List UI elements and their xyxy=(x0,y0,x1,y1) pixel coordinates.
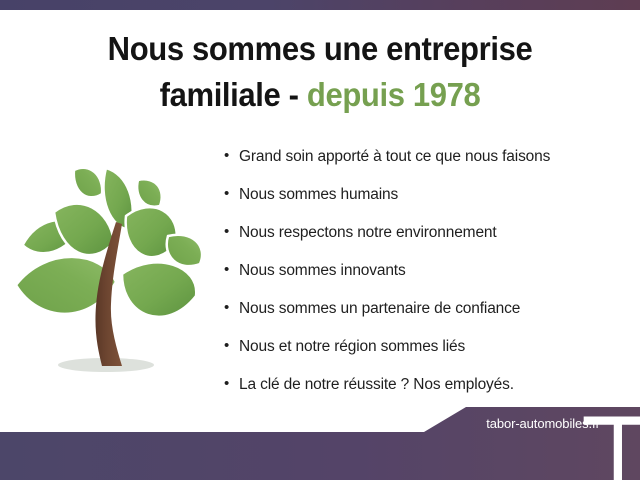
top-accent-strip xyxy=(0,0,640,10)
list-item: •La clé de notre réussite ? Nos employés… xyxy=(222,376,630,393)
page-title-prefix: familiale xyxy=(160,76,281,113)
bullet-marker-icon: • xyxy=(224,186,229,203)
page-title-line-2: familiale - depuis 1978 xyxy=(19,72,621,118)
list-item-label: Grand soin apporté à tout ce que nous fa… xyxy=(239,148,550,165)
bullet-marker-icon: • xyxy=(224,148,229,165)
benefits-list: •Grand soin apporté à tout ce que nous f… xyxy=(222,148,630,393)
bullet-marker-icon: • xyxy=(224,300,229,317)
brand-logo[interactable]: tabor-automobiles.fr xyxy=(460,413,626,431)
list-item: •Nous respectons notre environnement xyxy=(222,224,630,241)
list-item-label: Nous et notre région sommes liés xyxy=(239,338,465,355)
leaf xyxy=(122,262,196,316)
page-title: Nous sommes une entreprise familiale - d… xyxy=(19,26,621,117)
leaf xyxy=(74,168,102,198)
list-item-label: La clé de notre réussite ? Nos employés. xyxy=(239,376,514,393)
list-item-label: Nous sommes innovants xyxy=(239,262,406,279)
tree-illustration-svg xyxy=(10,150,220,390)
page-title-line-1: Nous sommes une entreprise xyxy=(19,26,621,72)
list-item: •Grand soin apporté à tout ce que nous f… xyxy=(222,148,630,165)
bullet-marker-icon: • xyxy=(224,376,229,393)
list-item: •Nous sommes innovants xyxy=(222,262,630,279)
leaf xyxy=(167,235,202,266)
list-item-label: Nous sommes un partenaire de confiance xyxy=(239,300,520,317)
footer-banner: tabor-automobiles.fr xyxy=(0,404,640,480)
list-item-label: Nous sommes humains xyxy=(239,186,398,203)
leaf xyxy=(137,179,162,206)
list-item: •Nous sommes humains xyxy=(222,186,630,203)
page-title-accent: depuis 1978 xyxy=(307,76,480,113)
list-item-label: Nous respectons notre environnement xyxy=(239,224,497,241)
bullet-marker-icon: • xyxy=(224,262,229,279)
tree-illustration xyxy=(10,150,220,390)
tabor-wordmark-icon xyxy=(460,413,640,480)
list-item: •Nous sommes un partenaire de confiance xyxy=(222,300,630,317)
list-item: •Nous et notre région sommes liés xyxy=(222,338,630,355)
bullet-marker-icon: • xyxy=(224,338,229,355)
slide-canvas: Nous sommes une entreprise familiale - d… xyxy=(0,0,640,480)
bullet-marker-icon: • xyxy=(224,224,229,241)
page-title-dash: - xyxy=(280,76,306,113)
